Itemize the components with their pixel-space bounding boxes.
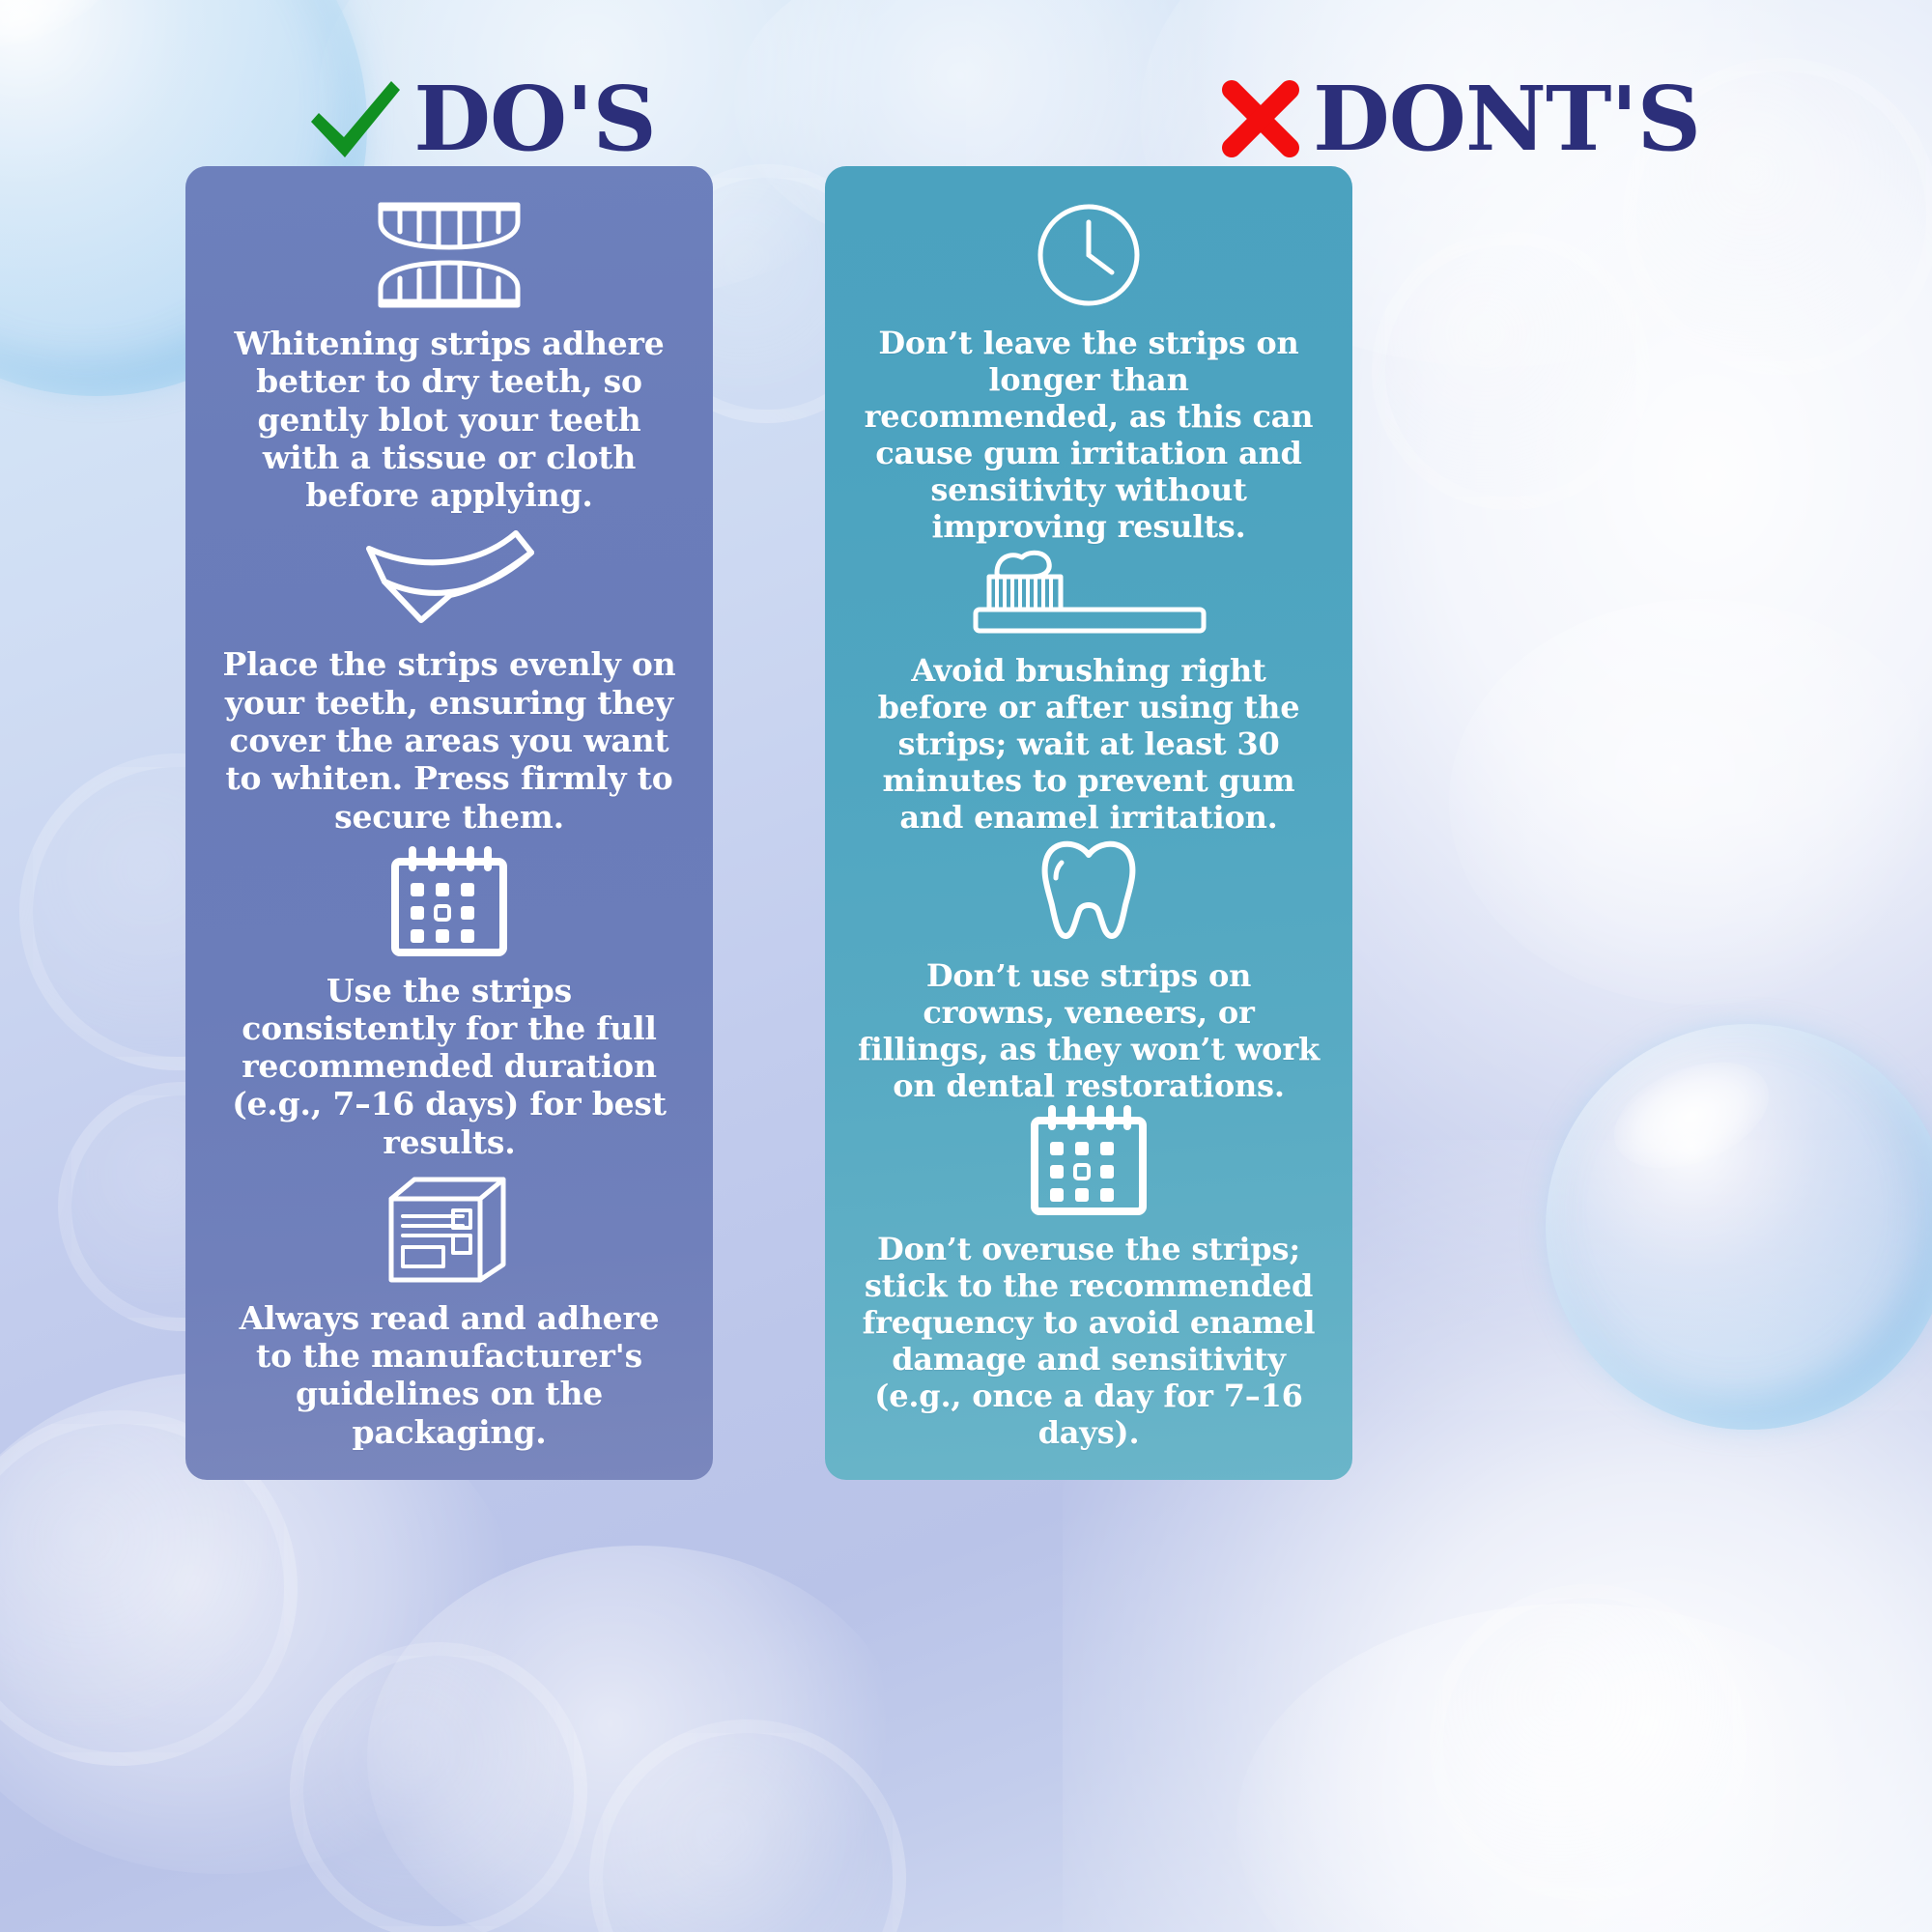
dos-card: Whitening strips adhere better to dry te… <box>185 166 713 1480</box>
whitening-strip-icon <box>359 526 539 632</box>
dos-title: DO'S <box>413 74 656 163</box>
donts-item-1: Don’t leave the strips on longer than re… <box>850 199 1327 545</box>
dos-item-3: Use the strips consistently for the full… <box>211 846 688 1161</box>
dos-item-4-text: Always read and adhere to the manufactur… <box>218 1299 680 1451</box>
donts-item-4-text: Don’t overuse the strips; stick to the r… <box>858 1231 1320 1451</box>
dos-item-1: Whitening strips adhere better to dry te… <box>211 199 688 514</box>
calendar-icon <box>1025 1105 1152 1217</box>
tooth-icon <box>1038 836 1139 944</box>
dos-item-1-text: Whitening strips adhere better to dry te… <box>218 325 680 514</box>
dos-item-3-text: Use the strips consistently for the full… <box>218 972 680 1161</box>
donts-item-1-text: Don’t leave the strips on longer than re… <box>858 325 1320 545</box>
donts-item-3-text: Don’t use strips on crowns, veneers, or … <box>858 957 1320 1104</box>
dos-header: DO'S <box>0 56 953 182</box>
donts-item-3: Don’t use strips on crowns, veneers, or … <box>850 836 1327 1104</box>
donts-header: DONT'S <box>953 56 1932 182</box>
donts-item-4: Don’t overuse the strips; stick to the r… <box>850 1105 1327 1451</box>
clock-icon <box>1033 199 1145 311</box>
donts-item-2: Avoid brushing right before or after usi… <box>850 546 1327 836</box>
donts-title: DONT'S <box>1313 74 1700 163</box>
toothbrush-icon <box>968 546 1209 639</box>
product-box-icon <box>382 1172 517 1286</box>
dos-item-4: Always read and adhere to the manufactur… <box>211 1172 688 1451</box>
donts-item-2-text: Avoid brushing right before or after usi… <box>858 652 1320 836</box>
teeth-icon <box>367 199 531 311</box>
green-check-icon <box>301 66 408 172</box>
red-cross-icon <box>1214 69 1307 169</box>
donts-card: Don’t leave the strips on longer than re… <box>825 166 1352 1480</box>
headers-row: DO'S DONT'S <box>0 56 1932 182</box>
dos-item-2: Place the strips evenly on your teeth, e… <box>211 526 688 835</box>
dos-item-2-text: Place the strips evenly on your teeth, e… <box>218 645 680 835</box>
calendar-icon <box>385 846 513 958</box>
